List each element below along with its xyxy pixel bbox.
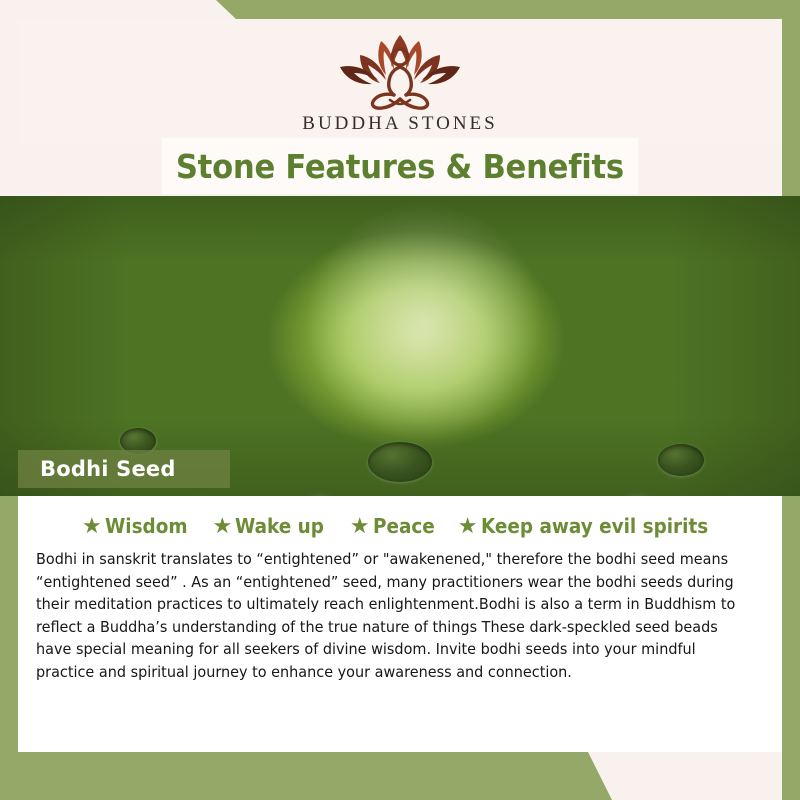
star-icon: ★ <box>82 515 102 537</box>
brand-header: BUDDHA STONES <box>18 19 782 144</box>
star-icon: ★ <box>458 515 478 537</box>
description-text: Bodhi in sanskrit translates to “entight… <box>36 546 755 683</box>
lotus-meditation-icon <box>334 27 466 111</box>
seed-name-tag: Bodhi Seed <box>18 450 230 488</box>
benefit-item-peace: ★ Peace <box>350 514 440 538</box>
benefit-item-wisdom: ★ Wisdom <box>82 514 194 538</box>
title-banner: Stone Features & Benefits <box>162 138 638 194</box>
seed-name-label: Bodhi Seed <box>40 457 176 481</box>
benefit-label: Keep away evil spirits <box>481 514 708 538</box>
benefit-item-keep-away-evil-spirits: ★ Keep away evil spirits <box>458 514 728 538</box>
poster-root: BUDDHA STONES Stone Features & Benefits … <box>0 0 800 800</box>
benefit-label: Peace <box>373 514 435 538</box>
benefit-label: Wisdom <box>105 514 188 538</box>
brand-name: BUDDHA STONES <box>302 113 497 135</box>
star-icon: ★ <box>212 515 232 537</box>
page-title: Stone Features & Benefits <box>176 147 624 186</box>
decorative-bottom-band <box>0 752 800 800</box>
benefit-label: Wake up <box>235 514 324 538</box>
benefit-item-wake-up: ★ Wake up <box>212 514 331 538</box>
star-icon: ★ <box>350 515 370 537</box>
decorative-top-band <box>0 0 800 19</box>
content-panel: ★ Wisdom ★ Wake up ★ Peace ★ Keep away e… <box>18 496 782 752</box>
benefits-list: ★ Wisdom ★ Wake up ★ Peace ★ Keep away e… <box>36 514 760 538</box>
